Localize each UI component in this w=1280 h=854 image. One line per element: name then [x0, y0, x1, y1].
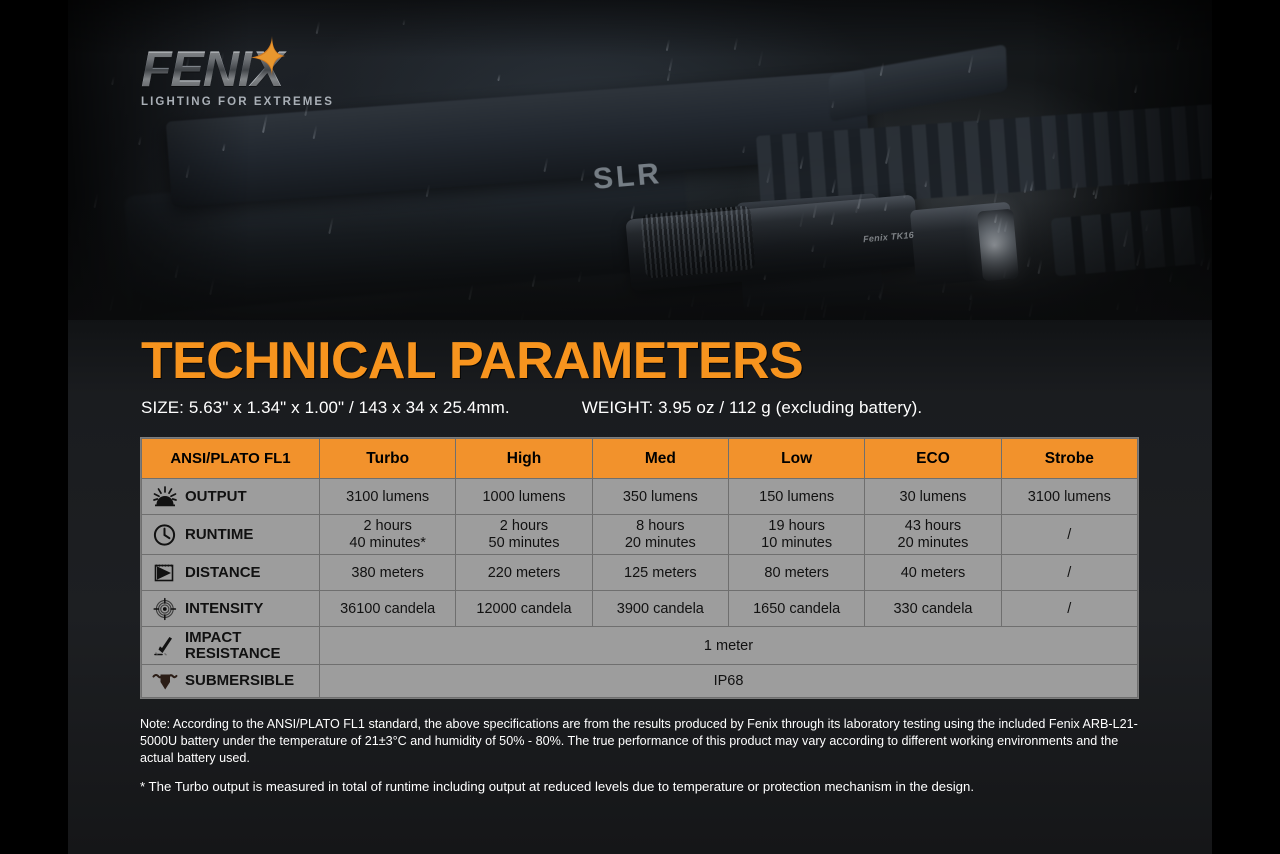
cell-distance-eco: 40 meters [865, 555, 1001, 591]
cell-line-1: 8 hours [593, 518, 728, 534]
table-row-impact-resistance: IMPACT RESISTANCE 1 meter [142, 627, 1138, 665]
cell-runtime-med: 8 hours 20 minutes [592, 515, 728, 555]
cell-distance-med: 125 meters [592, 555, 728, 591]
cell-runtime-low: 19 hours 10 minutes [728, 515, 864, 555]
column-header-low: Low [728, 439, 864, 479]
cell-line-2: 10 minutes [729, 535, 864, 551]
column-header-turbo: Turbo [320, 439, 456, 479]
size-text: SIZE: 5.63" x 1.34" x 1.00" / 143 x 34 x… [141, 398, 510, 418]
row-label-line-2: RESISTANCE [185, 646, 281, 662]
cell-output-eco: 30 lumens [865, 479, 1001, 515]
row-label-distance: DISTANCE [142, 555, 320, 591]
target-intensity-icon [152, 597, 178, 621]
beam-distance-icon [152, 561, 178, 585]
table-row-runtime: RUNTIME 2 hours 40 minutes* 2 hours 50 m… [142, 515, 1138, 555]
cell-intensity-turbo: 36100 candela [320, 591, 456, 627]
cell-impact-resistance-value: 1 meter [320, 627, 1138, 665]
cell-submersible-value: IP68 [320, 665, 1138, 698]
cell-line-2: 40 minutes* [320, 535, 455, 551]
specifications-table: ANSI/PLATO FL1 Turbo High Med Low ECO St… [140, 437, 1139, 699]
cell-runtime-high: 2 hours 50 minutes [456, 515, 592, 555]
turbo-footnote-text: * The Turbo output is measured in total … [140, 779, 1160, 794]
table-row-submersible: SUBMERSIBLE IP68 [142, 665, 1138, 698]
table-row-output: OUTPUT 3100 lumens 1000 lumens 350 lumen… [142, 479, 1138, 515]
column-header-standard: ANSI/PLATO FL1 [142, 439, 320, 479]
page-root: SLR Fenix TK16 FENIX LIGHTING FOR EXTREM… [0, 0, 1280, 854]
sunburst-icon [152, 485, 178, 509]
row-label-text: INTENSITY [185, 601, 263, 617]
row-label-runtime: RUNTIME [142, 515, 320, 555]
cell-runtime-strobe: / [1001, 515, 1137, 555]
row-label-text: DISTANCE [185, 565, 261, 581]
table-row-intensity: INTENSITY 36100 candela 12000 candela 39… [142, 591, 1138, 627]
cell-distance-high: 220 meters [456, 555, 592, 591]
column-header-high: High [456, 439, 592, 479]
cell-distance-turbo: 380 meters [320, 555, 456, 591]
cell-output-strobe: 3100 lumens [1001, 479, 1137, 515]
page-title: TECHNICAL PARAMETERS [141, 334, 803, 389]
cell-distance-low: 80 meters [728, 555, 864, 591]
impact-drop-icon [152, 634, 178, 658]
cell-intensity-low: 1650 candela [728, 591, 864, 627]
cell-line-1: 19 hours [729, 518, 864, 534]
size-weight-line: SIZE: 5.63" x 1.34" x 1.00" / 143 x 34 x… [141, 398, 1141, 418]
cell-line-1: 43 hours [865, 518, 1000, 534]
logo-wordmark: FENIX [141, 44, 341, 94]
ansi-note-text: Note: According to the ANSI/PLATO FL1 st… [140, 716, 1145, 767]
column-header-eco: ECO [865, 439, 1001, 479]
cell-intensity-med: 3900 candela [592, 591, 728, 627]
row-label-intensity: INTENSITY [142, 591, 320, 627]
row-label-submersible: SUBMERSIBLE [142, 665, 320, 698]
row-label-text: IMPACT RESISTANCE [185, 630, 281, 661]
cell-distance-strobe: / [1001, 555, 1137, 591]
cell-output-turbo: 3100 lumens [320, 479, 456, 515]
row-label-output: OUTPUT [142, 479, 320, 515]
row-label-text: RUNTIME [185, 527, 253, 543]
weight-text: WEIGHT: 3.95 oz / 112 g (excluding batte… [582, 398, 922, 418]
logo-tagline: LIGHTING FOR EXTREMES [141, 96, 341, 108]
column-header-strobe: Strobe [1001, 439, 1137, 479]
cell-output-med: 350 lumens [592, 479, 728, 515]
clock-icon [152, 523, 178, 547]
cell-output-low: 150 lumens [728, 479, 864, 515]
fenix-logo[interactable]: FENIX LIGHTING FOR EXTREMES [141, 44, 341, 114]
row-label-text: OUTPUT [185, 489, 247, 505]
cell-line-2: 20 minutes [593, 535, 728, 551]
column-header-med: Med [592, 439, 728, 479]
submersible-icon [152, 669, 178, 693]
row-label-impact-resistance: IMPACT RESISTANCE [142, 627, 320, 665]
four-point-star-icon [251, 36, 285, 76]
cell-line-2: 50 minutes [456, 535, 591, 551]
cell-runtime-eco: 43 hours 20 minutes [865, 515, 1001, 555]
cell-intensity-eco: 330 candela [865, 591, 1001, 627]
cell-intensity-high: 12000 candela [456, 591, 592, 627]
cell-line-1: 2 hours [456, 518, 591, 534]
cell-runtime-turbo: 2 hours 40 minutes* [320, 515, 456, 555]
row-label-line-1: IMPACT [185, 630, 281, 646]
cell-intensity-strobe: / [1001, 591, 1137, 627]
cell-line-1: 2 hours [320, 518, 455, 534]
row-label-text: SUBMERSIBLE [185, 673, 294, 689]
table-header-row: ANSI/PLATO FL1 Turbo High Med Low ECO St… [142, 439, 1138, 479]
cell-line-2: 20 minutes [865, 535, 1000, 551]
cell-output-high: 1000 lumens [456, 479, 592, 515]
table-row-distance: DISTANCE 380 meters 220 meters 125 meter… [142, 555, 1138, 591]
